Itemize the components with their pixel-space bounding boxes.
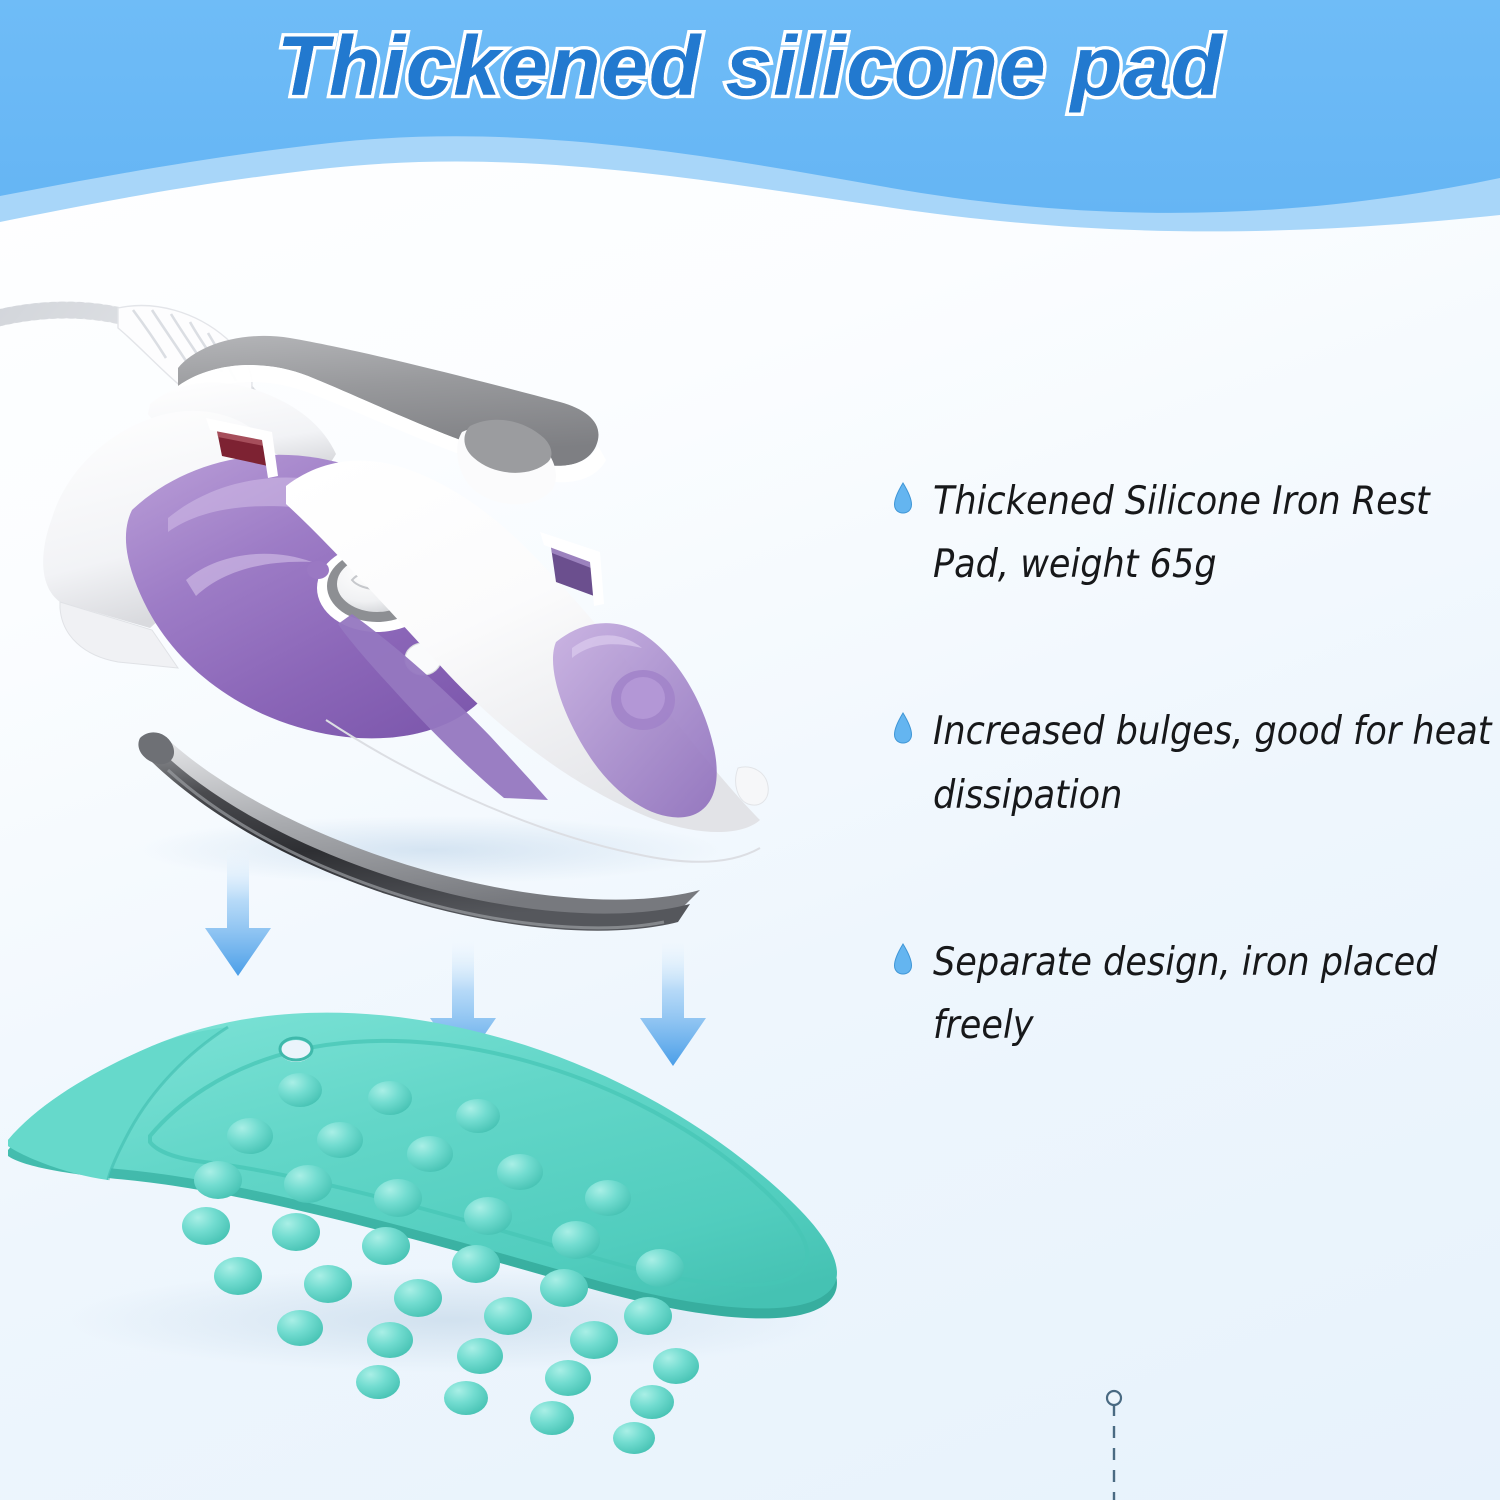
feature-item-2: Increased bulges, good for heat dissipat…: [893, 700, 1493, 826]
pad-hang-hole-group: [280, 1038, 312, 1062]
header-wave-graphic: [0, 0, 1500, 250]
water-drop-icon: [893, 943, 913, 975]
product-infographic: Thickened silicone pad Thickened silicon…: [0, 0, 1500, 1500]
header-banner: Thickened silicone pad Thickened silicon…: [0, 0, 1500, 250]
feature-text-2: Increased bulges, good for heat dissipat…: [933, 700, 1493, 826]
feature-text-3: Separate design, iron placed freely: [933, 931, 1493, 1057]
silicone-iron-rest-pad-image: [0, 250, 900, 1500]
water-drop-icon: [893, 482, 913, 514]
features-list: Thickened Silicone Iron Rest Pad, weight…: [893, 470, 1493, 1161]
feature-text-1: Thickened Silicone Iron Rest Pad, weight…: [933, 470, 1493, 596]
water-drop-icon: [893, 712, 913, 744]
feature-item-3: Separate design, iron placed freely: [893, 931, 1493, 1057]
product-stage: [0, 250, 900, 1500]
feature-item-1: Thickened Silicone Iron Rest Pad, weight…: [893, 470, 1493, 596]
dashed-dimension-guide: [780, 1370, 1200, 1500]
